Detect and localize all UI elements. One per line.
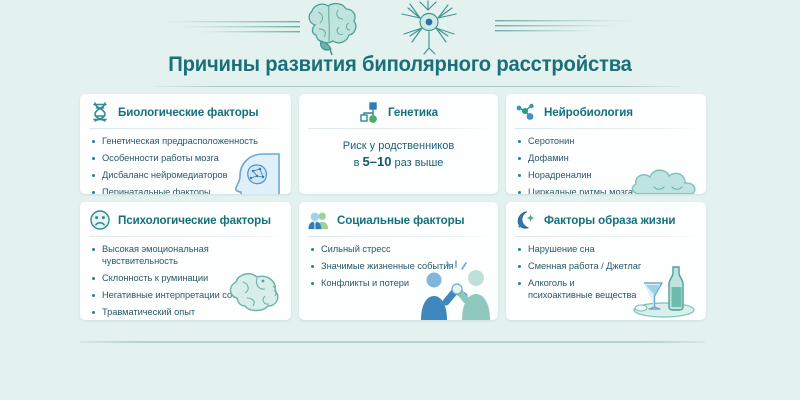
list-item: Конфликты и потери	[310, 278, 489, 290]
card-title: Факторы образа жизни	[544, 214, 675, 227]
two-people-icon	[308, 209, 330, 231]
card-title: Генетика	[388, 106, 438, 119]
list-item: Высокая эмоциональная чувствительность	[91, 244, 282, 267]
cards-grid: Биологические факторы Генетическая предр…	[80, 94, 706, 320]
header: Причины развития биполярного расстройств…	[0, 0, 800, 88]
list-item: Нарушение сна	[517, 244, 697, 256]
card-psychological[interactable]: Психологические факторы Высокая эмоциона…	[80, 202, 291, 320]
card-body: Высокая эмоциональная чувствительность С…	[80, 237, 291, 318]
family-tree-icon	[359, 101, 381, 123]
bullet-list: Высокая эмоциональная чувствительность С…	[91, 244, 282, 318]
cards-row-top: Биологические факторы Генетическая предр…	[80, 94, 706, 194]
list-item: Склонность к руминации	[91, 273, 282, 285]
genetics-statement: Риск у родственников в 5–10 раз выше	[299, 129, 498, 171]
sad-face-icon	[89, 209, 111, 231]
card-title: Социальные факторы	[337, 214, 464, 227]
list-item: Сильный стресс	[310, 244, 489, 256]
list-item: Перинатальные факторы	[91, 187, 282, 194]
genetics-risk-value: 5–10	[363, 154, 392, 169]
card-title: Биологические факторы	[118, 106, 258, 119]
bullet-list: Сильный стресс Значимые жизненные событи…	[310, 244, 489, 290]
moon-icon	[515, 209, 537, 231]
card-body: Нарушение сна Сменная работа / Джетлаг А…	[506, 237, 706, 301]
list-item: Дисбаланс нейромедиаторов	[91, 170, 282, 182]
genetics-suffix: раз выше	[391, 157, 443, 169]
card-header: Биологические факторы	[80, 94, 291, 128]
genetics-line-1: Риск у родственников	[309, 139, 488, 154]
list-item: Алкоголь и психоактивные вещества	[517, 278, 640, 301]
header-artwork	[0, 0, 800, 58]
list-item: Дофамин	[517, 153, 697, 165]
card-header: Факторы образа жизни	[506, 202, 706, 236]
footer-divider	[80, 341, 705, 343]
list-item: Травматический опыт	[91, 307, 282, 319]
card-header: Генетика	[299, 94, 498, 128]
header-divider	[156, 86, 681, 87]
card-body: Генетическая предрасположенность Особенн…	[80, 129, 291, 194]
card-social[interactable]: Социальные факторы Сильный стресс Значим…	[299, 202, 498, 320]
list-item: Серотонин	[517, 136, 697, 148]
card-title: Нейробиология	[544, 106, 633, 119]
card-title: Психологические факторы	[118, 214, 271, 227]
speed-lines-right	[495, 20, 635, 31]
cards-row-bottom: Психологические факторы Высокая эмоциона…	[80, 202, 706, 320]
card-body: Серотонин Дофамин Норадреналин Циркадные…	[506, 129, 706, 194]
card-header: Психологические факторы	[80, 202, 291, 236]
molecule-icon	[515, 101, 537, 123]
page-title: Причины развития биполярного расстройств…	[24, 52, 776, 77]
list-item: Циркадные ритмы мозга	[517, 187, 697, 194]
speed-lines-left	[160, 21, 300, 32]
card-biological[interactable]: Биологические факторы Генетическая предр…	[80, 94, 291, 194]
bullet-list: Нарушение сна Сменная работа / Джетлаг А…	[517, 244, 697, 301]
list-item: Значимые жизненные события	[310, 261, 489, 273]
card-header: Нейробиология	[506, 94, 706, 128]
card-genetics[interactable]: Генетика Риск у родственников в 5–10 раз…	[299, 94, 498, 194]
genetics-line-2: в 5–10 раз выше	[309, 154, 488, 171]
list-item: Норадреналин	[517, 170, 697, 182]
list-item: Генетическая предрасположенность	[91, 136, 282, 148]
dna-helix-icon	[89, 101, 111, 123]
bullet-list: Серотонин Дофамин Норадреналин Циркадные…	[517, 136, 697, 194]
infographic-root: Причины развития биполярного расстройств…	[0, 0, 800, 400]
card-header: Социальные факторы	[299, 202, 498, 236]
bullet-list: Генетическая предрасположенность Особенн…	[91, 136, 282, 194]
card-body: Сильный стресс Значимые жизненные событи…	[299, 237, 498, 290]
list-item: Особенности работы мозга	[91, 153, 282, 165]
neuron-icon	[402, 1, 456, 54]
brain-icon	[309, 4, 356, 55]
card-neurobiology[interactable]: Нейробиология Серотонин Дофамин Норадрен…	[506, 94, 706, 194]
list-item: Негативные интерпретации событий	[91, 290, 282, 302]
genetics-prefix: в	[354, 157, 363, 169]
card-lifestyle[interactable]: Факторы образа жизни Нарушение сна Сменн…	[506, 202, 706, 320]
list-item: Сменная работа / Джетлаг	[517, 261, 697, 273]
